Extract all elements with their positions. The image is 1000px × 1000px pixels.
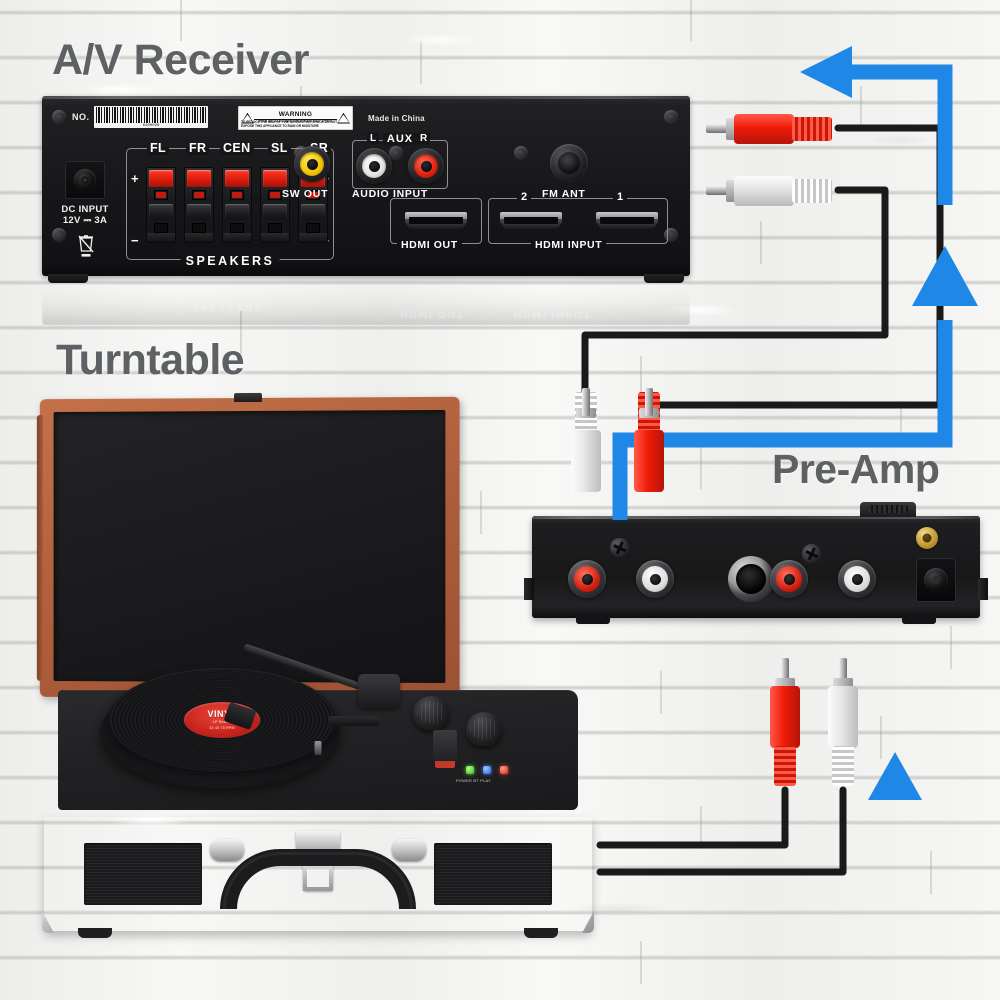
lid-inner-panel [54,410,446,683]
hdmi-input-port-2[interactable] [500,212,562,229]
aux-left-label: L [367,133,379,144]
receiver-reflection: SPEAKERS HDMI OUT HDMI INPUT [42,281,690,325]
volume-knob[interactable] [413,696,449,730]
rca-plug-strain-relief-red [774,746,796,786]
speaker-terminal-fl[interactable] [146,167,176,243]
rca-plug-body-red [634,430,664,492]
chrome-corner-bottom-right [560,899,594,933]
preamp-screw-left [610,538,629,557]
section-title-av-receiver: A/V Receiver [52,36,309,85]
preamp-side-tab-right [978,578,988,600]
aux-label: AUX [383,133,417,145]
preamp-dc-power-jack[interactable] [916,558,956,602]
vinyl-record: VINYL LP Record 33 45 78 RPM [108,668,336,772]
play-led-icon [500,766,508,774]
tonearm-rest [328,716,380,726]
rca-plug-body-red [770,686,800,748]
warning-label: WARNING RISK OF ELECTRIC SHOCK DO NOT OP… [238,106,353,130]
turntable-base: VINYL LP Record 33 45 78 RPM POWER BT PL… [58,690,578,890]
section-title-turntable: Turntable [56,336,244,385]
turntable-front-panel [44,817,592,931]
hdmi-out-label: HDMI OUT [397,239,462,251]
preamp-output-left-jack[interactable] [636,560,674,598]
hdmi-out-port[interactable] [405,212,467,229]
rca-plug-body-white [571,430,601,492]
lid-hinge [234,393,262,402]
barcode-number: 6100026 [94,124,208,128]
warning-body-text: TO REDUCE THE RISK OF FIRE OR ELECTRIC S… [241,120,350,128]
rca-plug-white-receiver-input[interactable] [706,172,838,210]
dc-input-rating: 12V ⎓ 3A [56,215,114,226]
turntable-lid[interactable] [40,397,460,699]
preamp-input-right-jack[interactable] [770,560,808,598]
speakers-group-label: SPEAKERS [181,254,280,268]
power-led-icon [466,766,474,774]
preamp-input-left-jack[interactable] [838,560,876,598]
terminal-polarity-minus-left: − [131,233,139,248]
rca-plug-white-preamp-output[interactable] [566,388,606,520]
bluetooth-led-icon [483,766,491,774]
speaker-terminal-fr[interactable] [184,167,214,243]
speaker-terminal-sl[interactable] [260,167,290,243]
suitcase-turntable: VINYL LP Record 33 45 78 RPM POWER BT PL… [20,390,610,970]
platter-spindle [315,741,322,755]
lid-left-edge [37,415,43,681]
rca-plug-body-white [734,176,794,206]
indicator-led-row [466,766,508,774]
hdmi-input-label: HDMI INPUT [531,239,606,251]
hdmi-input-port-1-number: 1 [613,191,627,203]
chrome-corner-bottom-left [42,899,76,933]
preamp-top-knob[interactable] [860,502,916,517]
speaker-grille-left [84,843,202,905]
speaker-terminal-cen[interactable] [222,167,252,243]
preamp-foot-right [902,616,936,624]
handle-mount-right [392,839,426,861]
chassis-screw [52,110,66,124]
sw-out-jack[interactable] [294,146,330,182]
serial-number-prefix: NO. [72,112,90,122]
rca-plug-red-preamp-output[interactable] [629,388,669,520]
cartridge-block [433,730,457,768]
rca-plug-red-receiver-input[interactable] [706,110,838,148]
preamp-ground-center-jack[interactable] [728,556,774,602]
weee-bin-icon [76,232,96,258]
rca-plug-strain-relief-white [792,179,832,203]
rca-plug-tip [645,388,653,416]
speaker-channel-label-sl: SL [268,141,291,155]
vinyl-rpm-text: 33 45 78 RPM [209,726,234,730]
preamp-screw-right [802,544,821,563]
chassis-screw [514,146,528,160]
speaker-grille-right [434,843,552,905]
led-caption-text: POWER BT PLAY [456,778,491,783]
terminal-polarity-plus-left: + [131,171,139,186]
hdmi-input-port-2-number: 2 [517,191,531,203]
carry-handle[interactable] [220,839,416,911]
rca-plug-body-white [828,686,858,748]
rca-plug-white-turntable-output[interactable] [823,658,863,790]
turntable-deck: VINYL LP Record 33 45 78 RPM POWER BT PL… [58,690,578,810]
chassis-screw [52,228,66,242]
tonearm-pivot-base [358,674,400,708]
turntable-foot-left [78,928,112,938]
fm-antenna-jack[interactable] [550,144,588,182]
av-receiver-rear-panel: NO. 6100026 WARNING RISK OF ELECTRIC SHO… [42,96,690,276]
hdmi-input-port-1[interactable] [596,212,658,229]
speaker-channel-label-fl: FL [147,141,169,155]
rca-plug-strain-relief-white [832,746,854,786]
speaker-channel-label-fr: FR [186,141,209,155]
turntable-foot-right [524,928,558,938]
dc-input-label: DC INPUT [56,204,114,215]
aux-right-label: R [417,133,430,144]
handle-mount-left [210,839,244,861]
speaker-channel-label-cen: CEN [220,141,254,155]
rca-plug-tip [582,388,590,416]
rca-plug-body-red [734,114,794,144]
sw-out-label: SW OUT [282,188,328,200]
dc-input-jack[interactable] [65,161,105,199]
section-title-preamp: Pre-Amp [772,446,939,493]
aux-input-right-jack[interactable] [408,148,444,184]
preamp-ground-terminal-post[interactable] [916,527,938,549]
rca-plug-strain-relief-red [792,117,832,141]
barcode-label: 6100026 [94,106,208,128]
made-in-label: Made in China [368,114,425,123]
chassis-screw [664,110,678,124]
rca-plug-red-turntable-output[interactable] [765,658,805,790]
aux-input-left-jack[interactable] [356,148,392,184]
tone-knob[interactable] [466,712,502,746]
